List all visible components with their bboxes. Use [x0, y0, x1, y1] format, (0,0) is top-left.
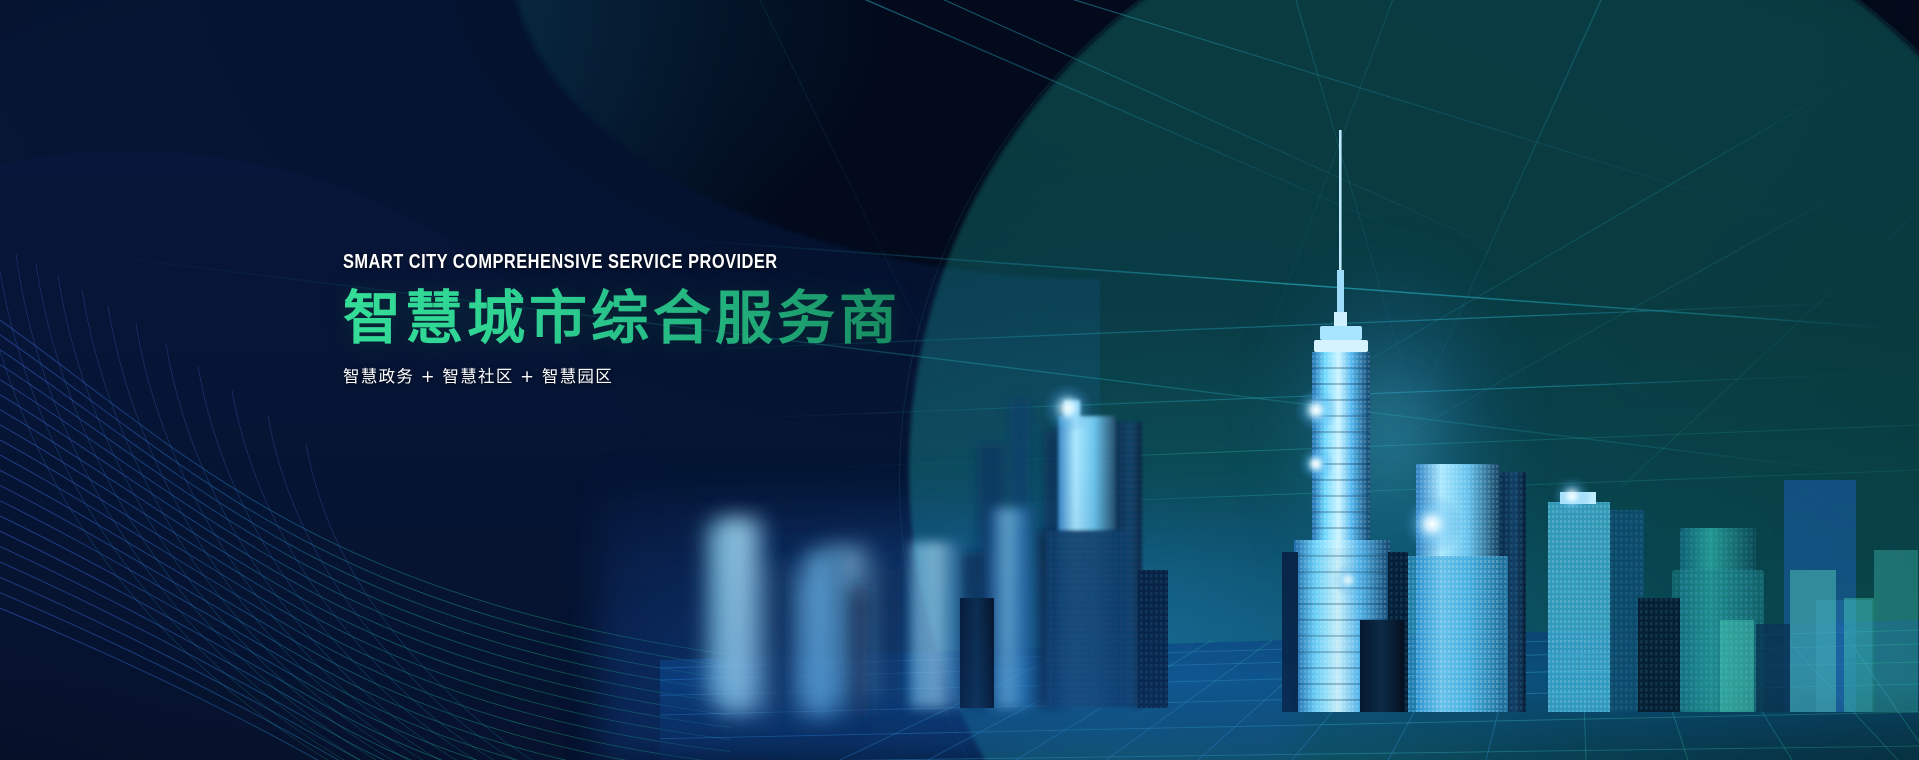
hero-text-block: SMART CITY COMPREHENSIVE SERVICE PROVIDE… — [343, 252, 1043, 387]
subtitle-chinese: 智慧政务 + 智慧社区 + 智慧园区 — [343, 363, 1043, 387]
tagline-english: SMART CITY COMPREHENSIVE SERVICE PROVIDE… — [343, 252, 903, 273]
headline-chinese: 智慧城市综合服务商 — [343, 287, 1043, 350]
hero-banner: SMART CITY COMPREHENSIVE SERVICE PROVIDE… — [0, 0, 1919, 760]
foreground-haze — [600, 460, 1300, 760]
